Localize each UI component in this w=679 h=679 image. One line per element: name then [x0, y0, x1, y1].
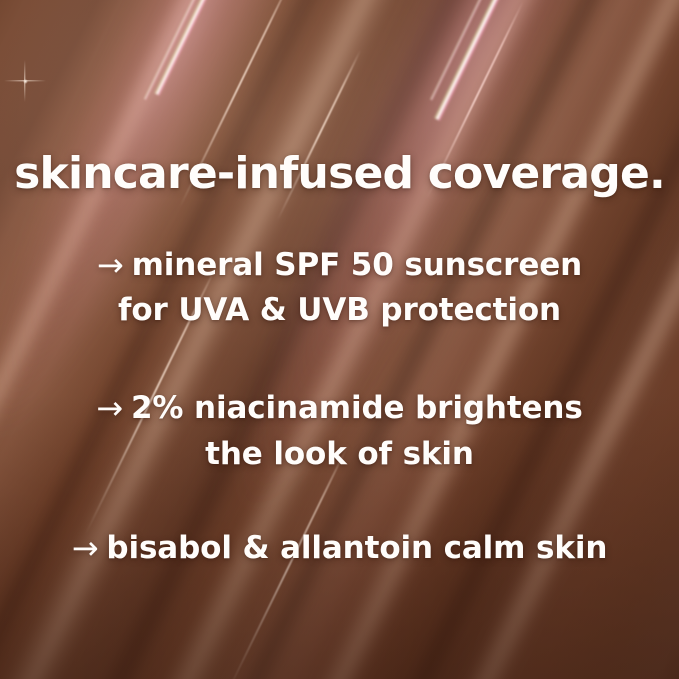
- list-item: →mineral SPF 50 sunscreen for UVA & UVB …: [0, 243, 679, 332]
- benefit-line: for UVA & UVB protection: [0, 288, 679, 332]
- benefit-text: bisabol & allantoin calm skin: [106, 530, 607, 566]
- benefit-line: →bisabol & allantoin calm skin: [0, 526, 679, 571]
- list-item: →2% niacinamide brightens the look of sk…: [0, 386, 679, 475]
- right-arrow-icon: →: [97, 243, 124, 288]
- marketing-image-canvas: skincare-infused coverage. →mineral SPF …: [0, 0, 679, 679]
- benefits-list: →mineral SPF 50 sunscreen for UVA & UVB …: [0, 243, 679, 571]
- right-arrow-icon: →: [96, 386, 123, 431]
- benefit-line: →2% niacinamide brightens: [0, 386, 679, 431]
- benefit-text: mineral SPF 50 sunscreen: [132, 247, 582, 283]
- right-arrow-icon: →: [72, 526, 99, 571]
- page-title: skincare-infused coverage.: [0, 152, 679, 196]
- benefit-line: →mineral SPF 50 sunscreen: [0, 243, 679, 288]
- copy-block: skincare-infused coverage. →mineral SPF …: [0, 0, 679, 679]
- list-item: →bisabol & allantoin calm skin: [0, 526, 679, 571]
- benefit-line: the look of skin: [0, 432, 679, 476]
- benefit-text: 2% niacinamide brightens: [131, 390, 583, 426]
